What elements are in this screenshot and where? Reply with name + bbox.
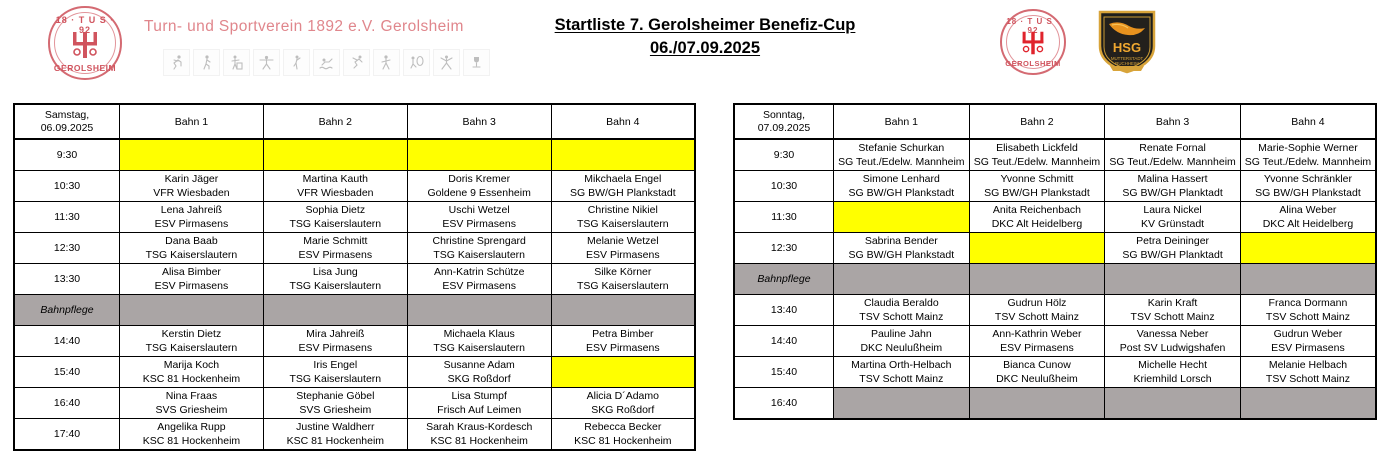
player-name: Franca Dormann xyxy=(1241,296,1375,310)
player-club: SG Teut./Edelw. Mannheim xyxy=(1241,155,1375,169)
svg-text:HSG: HSG xyxy=(1113,40,1141,55)
time-cell: 9:30 xyxy=(734,139,834,171)
player-name: Martina Kauth xyxy=(264,172,407,186)
player-name: Simone Lenhard xyxy=(834,172,969,186)
time-cell: 15:40 xyxy=(14,357,120,388)
club-name: Turn- und Sportverein 1892 e.V. Gerolshe… xyxy=(144,18,464,36)
lane-header-3: Bahn 3 xyxy=(1105,104,1241,139)
table-row: 15:40Martina Orth-HelbachTSV Schott Main… xyxy=(734,357,1376,388)
player-name: Karin Jäger xyxy=(120,172,263,186)
maintenance-row: Bahnpflege xyxy=(14,295,695,326)
day-label-line2: 06.09.2025 xyxy=(41,122,94,134)
player-name: Stephanie Göbel xyxy=(264,389,407,403)
lane-1-slot: Karin JägerVFR Wiesbaden xyxy=(120,171,264,202)
jumping-icon xyxy=(283,49,310,76)
player-club: Post SV Ludwigshafen xyxy=(1105,341,1240,355)
table-row: 11:30Anita ReichenbachDKC Alt Heidelberg… xyxy=(734,202,1376,233)
lane-1-slot xyxy=(834,388,970,420)
lane-4-slot xyxy=(1240,233,1376,264)
lane-3-slot: Vanessa NeberPost SV Ludwigshafen xyxy=(1105,326,1241,357)
lane-header-2: Bahn 2 xyxy=(969,104,1105,139)
player-club: DKC Neulußheim xyxy=(834,341,969,355)
day-label-line1: Sonntag, xyxy=(763,109,805,121)
player-name: Doris Kremer xyxy=(408,172,551,186)
page-header: 18 · T U S · 92 GEROLSHEIM Turn- und Spo… xyxy=(0,0,1388,92)
logo-bottom-text: GEROLSHEIM xyxy=(50,63,120,73)
lane-2-slot: Yvonne SchmittSG BW/GH Plankstadt xyxy=(969,171,1105,202)
table-row: 9:30Stefanie SchurkanSG Teut./Edelw. Man… xyxy=(734,139,1376,171)
lane-4-slot: Alina WeberDKC Alt Heidelberg xyxy=(1240,202,1376,233)
table-header-row: Samstag,06.09.2025Bahn 1Bahn 2Bahn 3Bahn… xyxy=(14,104,695,139)
lane-4-slot: Mikchaela EngelSG BW/GH Plankstadt xyxy=(551,171,695,202)
maintenance-label: Bahnpflege xyxy=(14,295,120,326)
player-name: Marija Koch xyxy=(120,358,263,372)
player-name: Ann-Kathrin Weber xyxy=(970,327,1105,341)
player-name: Petra Deininger xyxy=(1105,234,1240,248)
player-name: Ann-Katrin Schütze xyxy=(408,265,551,279)
player-name: Anita Reichenbach xyxy=(970,203,1105,217)
player-name: Renate Fornal xyxy=(1105,141,1240,155)
lane-2-slot: Marie SchmittESV Pirmasens xyxy=(263,233,407,264)
lane-2-slot xyxy=(969,264,1105,295)
lane-1-slot xyxy=(120,295,264,326)
player-club: ESV Pirmasens xyxy=(408,217,551,231)
lane-header-4: Bahn 4 xyxy=(551,104,695,139)
lane-2-slot xyxy=(263,139,407,171)
lane-header-1: Bahn 1 xyxy=(834,104,970,139)
lane-1-slot: Nina FraasSVS Griesheim xyxy=(120,388,264,419)
bowling-icon xyxy=(403,49,430,76)
player-club: TSV Schott Mainz xyxy=(970,310,1105,324)
table-row: 13:30Alisa BimberESV PirmasensLisa JungT… xyxy=(14,264,695,295)
player-name: Martina Orth-Helbach xyxy=(834,358,969,372)
player-club: KSC 81 Hockenheim xyxy=(264,434,407,448)
player-club: SVS Griesheim xyxy=(120,403,263,417)
player-club: SG BW/GH Planktadt xyxy=(1105,248,1240,262)
time-cell: 12:30 xyxy=(14,233,120,264)
table-row: 14:40Pauline JahnDKC NeulußheimAnn-Kathr… xyxy=(734,326,1376,357)
player-name: Claudia Beraldo xyxy=(834,296,969,310)
player-club: TSG Kaiserslautern xyxy=(120,248,263,262)
player-club: VFR Wiesbaden xyxy=(120,186,263,200)
player-name: Malina Hassert xyxy=(1105,172,1240,186)
right-logo-group: 18 · T U S · 92 GEROLSHEIM HSG MUTTERSTA… xyxy=(1000,8,1158,76)
time-cell: 16:40 xyxy=(734,388,834,420)
logo-bottom-text-right: GEROLSHEIM xyxy=(1002,59,1064,68)
lane-3-slot: Petra DeiningerSG BW/GH Planktadt xyxy=(1105,233,1241,264)
player-name: Gudrun Weber xyxy=(1241,327,1375,341)
player-club: SG Teut./Edelw. Mannheim xyxy=(834,155,969,169)
player-name: Susanne Adam xyxy=(408,358,551,372)
player-club: ESV Pirmasens xyxy=(970,341,1105,355)
player-club: Goldene 9 Essenheim xyxy=(408,186,551,200)
table-header-row: Sonntag,07.09.2025Bahn 1Bahn 2Bahn 3Bahn… xyxy=(734,104,1376,139)
lane-2-slot: Elisabeth LickfeldSG Teut./Edelw. Mannhe… xyxy=(969,139,1105,171)
lane-3-slot: Uschi WetzelESV Pirmasens xyxy=(407,202,551,233)
time-cell: 11:30 xyxy=(14,202,120,233)
lane-header-1: Bahn 1 xyxy=(120,104,264,139)
lane-2-slot: Ann-Kathrin WeberESV Pirmasens xyxy=(969,326,1105,357)
player-name: Lisa Jung xyxy=(264,265,407,279)
player-name: Christine Nikiel xyxy=(552,203,694,217)
time-cell: 17:40 xyxy=(14,419,120,451)
maintenance-label: Bahnpflege xyxy=(734,264,834,295)
player-name: Bianca Cunow xyxy=(970,358,1105,372)
time-cell: 13:30 xyxy=(14,264,120,295)
player-club: KSC 81 Hockenheim xyxy=(552,434,694,448)
lane-2-slot: Mira JahreißESV Pirmasens xyxy=(263,326,407,357)
lane-2-slot: Gudrun HölzTSV Schott Mainz xyxy=(969,295,1105,326)
lane-4-slot: Alicia D´AdamoSKG Roßdorf xyxy=(551,388,695,419)
table-row: 12:30Sabrina BenderSG BW/GH PlankstadtPe… xyxy=(734,233,1376,264)
lane-2-slot: Lisa JungTSG Kaiserslautern xyxy=(263,264,407,295)
table-row: 15:40Marija KochKSC 81 HockenheimIris En… xyxy=(14,357,695,388)
fitness-icon xyxy=(253,49,280,76)
player-club: TSV Schott Mainz xyxy=(1241,372,1375,386)
day-label-line2: 07.09.2025 xyxy=(758,122,811,134)
lane-4-slot: Rebecca BeckerKSC 81 Hockenheim xyxy=(551,419,695,451)
player-name: Michaela Klaus xyxy=(408,327,551,341)
player-name: Yvonne Schränkler xyxy=(1241,172,1375,186)
title-line-2: 06./07.09.2025 xyxy=(470,37,940,60)
player-club: ESV Pirmasens xyxy=(552,248,694,262)
lane-2-slot xyxy=(969,388,1105,420)
lane-4-slot: Christine NikielTSG Kaiserslautern xyxy=(551,202,695,233)
lane-header-3: Bahn 3 xyxy=(407,104,551,139)
trident-icon-right xyxy=(1019,30,1047,56)
player-name: Nina Fraas xyxy=(120,389,263,403)
player-club: TSV Schott Mainz xyxy=(1241,310,1375,324)
hsg-crest-icon: HSG MUTTERSTADT RUCHHEIM xyxy=(1096,8,1158,76)
player-club: SG Teut./Edelw. Mannheim xyxy=(1105,155,1240,169)
lane-3-slot: Susanne AdamSKG Roßdorf xyxy=(407,357,551,388)
player-name: Sabrina Bender xyxy=(834,234,969,248)
lane-1-slot: Marija KochKSC 81 Hockenheim xyxy=(120,357,264,388)
trident-icon xyxy=(69,30,101,60)
lane-1-slot: Kerstin DietzTSG Kaiserslautern xyxy=(120,326,264,357)
player-name: Angelika Rupp xyxy=(120,420,263,434)
player-club: KSC 81 Hockenheim xyxy=(408,434,551,448)
player-name: Lisa Stumpf xyxy=(408,389,551,403)
lane-3-slot: Christine SprengardTSG Kaiserslautern xyxy=(407,233,551,264)
maintenance-row: Bahnpflege xyxy=(734,264,1376,295)
player-name: Vanessa Neber xyxy=(1105,327,1240,341)
lane-4-slot: Gudrun WeberESV Pirmasens xyxy=(1240,326,1376,357)
lane-1-slot xyxy=(120,139,264,171)
player-club: TSV Schott Mainz xyxy=(834,310,969,324)
player-name: Justine Waldherr xyxy=(264,420,407,434)
player-name: Alicia D´Adamo xyxy=(552,389,694,403)
player-club: TSG Kaiserslautern xyxy=(264,372,407,386)
running-icon xyxy=(163,49,190,76)
table-row: 16:40Nina FraasSVS GriesheimStephanie Gö… xyxy=(14,388,695,419)
lane-1-slot: Simone LenhardSG BW/GH Plankstadt xyxy=(834,171,970,202)
table-row: 10:30Karin JägerVFR WiesbadenMartina Kau… xyxy=(14,171,695,202)
lane-2-slot: Bianca CunowDKC Neulußheim xyxy=(969,357,1105,388)
schedule-table-saturday: Samstag,06.09.2025Bahn 1Bahn 2Bahn 3Bahn… xyxy=(13,103,696,451)
player-club: DKC Alt Heidelberg xyxy=(1241,217,1375,231)
player-name: Sarah Kraus-Kordesch xyxy=(408,420,551,434)
lane-2-slot xyxy=(969,233,1105,264)
day-header-cell: Samstag,06.09.2025 xyxy=(14,104,120,139)
lane-2-slot xyxy=(263,295,407,326)
document-title: Startliste 7. Gerolsheimer Benefiz-Cup 0… xyxy=(470,14,940,60)
tus-gerolsheim-logo: 18 · T U S · 92 GEROLSHEIM xyxy=(48,6,122,80)
time-cell: 10:30 xyxy=(734,171,834,202)
lane-1-slot: Claudia BeraldoTSV Schott Mainz xyxy=(834,295,970,326)
lane-1-slot: Lena JahreißESV Pirmasens xyxy=(120,202,264,233)
time-cell: 10:30 xyxy=(14,171,120,202)
player-name: Kerstin Dietz xyxy=(120,327,263,341)
lane-3-slot: Doris KremerGoldene 9 Essenheim xyxy=(407,171,551,202)
player-club: ESV Pirmasens xyxy=(408,279,551,293)
lane-4-slot: Melanie HelbachTSV Schott Mainz xyxy=(1240,357,1376,388)
club-branding: 18 · T U S · 92 GEROLSHEIM Turn- und Spo… xyxy=(48,6,468,82)
time-cell: 13:40 xyxy=(734,295,834,326)
lane-1-slot xyxy=(834,264,970,295)
player-name: Stefanie Schurkan xyxy=(834,141,969,155)
table-row: 10:30Simone LenhardSG BW/GH PlankstadtYv… xyxy=(734,171,1376,202)
lane-3-slot: Michelle HechtKriemhild Lorsch xyxy=(1105,357,1241,388)
player-club: TSV Schott Mainz xyxy=(834,372,969,386)
player-name: Christine Sprengard xyxy=(408,234,551,248)
time-cell: 16:40 xyxy=(14,388,120,419)
lane-4-slot xyxy=(551,357,695,388)
saturday-table-body: Samstag,06.09.2025Bahn 1Bahn 2Bahn 3Bahn… xyxy=(14,104,695,450)
lane-2-slot: Martina KauthVFR Wiesbaden xyxy=(263,171,407,202)
player-name: Lena Jahreiß xyxy=(120,203,263,217)
lane-4-slot xyxy=(1240,388,1376,420)
lane-1-slot: Pauline JahnDKC Neulußheim xyxy=(834,326,970,357)
player-name: Alisa Bimber xyxy=(120,265,263,279)
hsg-mutterstadt-ruchheim-logo: HSG MUTTERSTADT RUCHHEIM xyxy=(1096,8,1158,76)
lane-3-slot xyxy=(407,295,551,326)
player-name: Marie Schmitt xyxy=(264,234,407,248)
lane-3-slot xyxy=(407,139,551,171)
lane-2-slot: Sophia DietzTSG Kaiserslautern xyxy=(263,202,407,233)
gymnastics-icon xyxy=(223,49,250,76)
player-club: TSG Kaiserslautern xyxy=(408,341,551,355)
player-club: KSC 81 Hockenheim xyxy=(120,372,263,386)
player-club: SG Teut./Edelw. Mannheim xyxy=(970,155,1105,169)
player-club: KV Grünstadt xyxy=(1105,217,1240,231)
player-club: SG BW/GH Planktadt xyxy=(1105,186,1240,200)
player-name: Rebecca Becker xyxy=(552,420,694,434)
walking-icon xyxy=(193,49,220,76)
lane-1-slot: Angelika RuppKSC 81 Hockenheim xyxy=(120,419,264,451)
player-club: Frisch Auf Leimen xyxy=(408,403,551,417)
player-name: Pauline Jahn xyxy=(834,327,969,341)
time-cell: 14:40 xyxy=(14,326,120,357)
table-row: 14:40Kerstin DietzTSG KaiserslauternMira… xyxy=(14,326,695,357)
player-name: Marie-Sophie Werner xyxy=(1241,141,1375,155)
player-name: Sophia Dietz xyxy=(264,203,407,217)
player-club: Kriemhild Lorsch xyxy=(1105,372,1240,386)
player-club: SVS Griesheim xyxy=(264,403,407,417)
player-club: DKC Alt Heidelberg xyxy=(970,217,1105,231)
lane-3-slot: Ann-Katrin SchützeESV Pirmasens xyxy=(407,264,551,295)
player-club: ESV Pirmasens xyxy=(264,248,407,262)
lane-4-slot: Franca DormannTSV Schott Mainz xyxy=(1240,295,1376,326)
player-club: SG BW/GH Plankstadt xyxy=(834,186,969,200)
lane-2-slot: Iris EngelTSG Kaiserslautern xyxy=(263,357,407,388)
tus-gerolsheim-logo-right: 18 · T U S · 92 GEROLSHEIM xyxy=(1000,9,1066,75)
day-header-cell: Sonntag,07.09.2025 xyxy=(734,104,834,139)
player-club: TSV Schott Mainz xyxy=(1105,310,1240,324)
player-name: Uschi Wetzel xyxy=(408,203,551,217)
player-club: SG BW/GH Plankstadt xyxy=(1241,186,1375,200)
lane-4-slot: Melanie WetzelESV Pirmasens xyxy=(551,233,695,264)
player-name: Melanie Helbach xyxy=(1241,358,1375,372)
lane-header-2: Bahn 2 xyxy=(263,104,407,139)
lane-1-slot: Martina Orth-HelbachTSV Schott Mainz xyxy=(834,357,970,388)
player-name: Gudrun Hölz xyxy=(970,296,1105,310)
player-club: TSG Kaiserslautern xyxy=(408,248,551,262)
player-name: Laura Nickel xyxy=(1105,203,1240,217)
sprinting-icon xyxy=(343,49,370,76)
player-name: Michelle Hecht xyxy=(1105,358,1240,372)
swimming-icon xyxy=(313,49,340,76)
lane-3-slot: Laura NickelKV Grünstadt xyxy=(1105,202,1241,233)
player-name: Dana Baab xyxy=(120,234,263,248)
player-name: Alina Weber xyxy=(1241,203,1375,217)
player-name: Elisabeth Lickfeld xyxy=(970,141,1105,155)
player-name: Mira Jahreiß xyxy=(264,327,407,341)
player-club: TSG Kaiserslautern xyxy=(264,217,407,231)
lane-header-4: Bahn 4 xyxy=(1240,104,1376,139)
table-row: 17:40Angelika RuppKSC 81 HockenheimJusti… xyxy=(14,419,695,451)
player-club: TSG Kaiserslautern xyxy=(264,279,407,293)
lane-1-slot: Sabrina BenderSG BW/GH Plankstadt xyxy=(834,233,970,264)
lane-3-slot: Lisa StumpfFrisch Auf Leimen xyxy=(407,388,551,419)
player-club: KSC 81 Hockenheim xyxy=(120,434,263,448)
player-name: Karin Kraft xyxy=(1105,296,1240,310)
lane-4-slot xyxy=(551,139,695,171)
lane-3-slot: Renate FornalSG Teut./Edelw. Mannheim xyxy=(1105,139,1241,171)
player-name: Mikchaela Engel xyxy=(552,172,694,186)
sunday-table-body: Sonntag,07.09.2025Bahn 1Bahn 2Bahn 3Bahn… xyxy=(734,104,1376,419)
sports-pictogram-strip xyxy=(163,49,490,76)
schedule-table-sunday: Sonntag,07.09.2025Bahn 1Bahn 2Bahn 3Bahn… xyxy=(733,103,1377,420)
player-club: TSG Kaiserslautern xyxy=(552,217,694,231)
stretching-icon xyxy=(433,49,460,76)
table-row: 12:30Dana BaabTSG KaiserslauternMarie Sc… xyxy=(14,233,695,264)
time-cell: 15:40 xyxy=(734,357,834,388)
lane-4-slot: Petra BimberESV Pirmasens xyxy=(551,326,695,357)
player-club: TSG Kaiserslautern xyxy=(552,279,694,293)
player-name: Iris Engel xyxy=(264,358,407,372)
player-club: VFR Wiesbaden xyxy=(264,186,407,200)
svg-text:RUCHHEIM: RUCHHEIM xyxy=(1115,61,1139,66)
table-row: 13:40Claudia BeraldoTSV Schott MainzGudr… xyxy=(734,295,1376,326)
lane-3-slot xyxy=(1105,388,1241,420)
player-club: ESV Pirmasens xyxy=(264,341,407,355)
player-name: Melanie Wetzel xyxy=(552,234,694,248)
player-name: Yvonne Schmitt xyxy=(970,172,1105,186)
lane-3-slot: Michaela KlausTSG Kaiserslautern xyxy=(407,326,551,357)
table-row: 9:30 xyxy=(14,139,695,171)
player-club: ESV Pirmasens xyxy=(120,279,263,293)
lane-1-slot: Alisa BimberESV Pirmasens xyxy=(120,264,264,295)
lane-4-slot: Yvonne SchränklerSG BW/GH Plankstadt xyxy=(1240,171,1376,202)
player-club: ESV Pirmasens xyxy=(120,217,263,231)
time-cell: 12:30 xyxy=(734,233,834,264)
time-cell: 14:40 xyxy=(734,326,834,357)
lane-3-slot: Malina HassertSG BW/GH Planktadt xyxy=(1105,171,1241,202)
lane-4-slot: Silke KörnerTSG Kaiserslautern xyxy=(551,264,695,295)
lane-3-slot: Sarah Kraus-KordeschKSC 81 Hockenheim xyxy=(407,419,551,451)
player-club: ESV Pirmasens xyxy=(1241,341,1375,355)
lane-4-slot xyxy=(1240,264,1376,295)
day-label-line1: Samstag, xyxy=(45,109,89,121)
player-club: SG BW/GH Plankstadt xyxy=(970,186,1105,200)
lane-1-slot: Dana BaabTSG Kaiserslautern xyxy=(120,233,264,264)
lane-2-slot: Stephanie GöbelSVS Griesheim xyxy=(263,388,407,419)
player-club: SKG Roßdorf xyxy=(552,403,694,417)
lane-3-slot: Karin KraftTSV Schott Mainz xyxy=(1105,295,1241,326)
player-club: SG BW/GH Plankstadt xyxy=(834,248,969,262)
player-name: Silke Körner xyxy=(552,265,694,279)
player-club: SKG Roßdorf xyxy=(408,372,551,386)
time-cell: 11:30 xyxy=(734,202,834,233)
player-name: Petra Bimber xyxy=(552,327,694,341)
player-club: TSG Kaiserslautern xyxy=(120,341,263,355)
player-club: ESV Pirmasens xyxy=(552,341,694,355)
lane-1-slot xyxy=(834,202,970,233)
table-row: 16:40 xyxy=(734,388,1376,420)
player-club: SG BW/GH Plankstadt xyxy=(552,186,694,200)
lane-3-slot xyxy=(1105,264,1241,295)
lane-2-slot: Justine WaldherrKSC 81 Hockenheim xyxy=(263,419,407,451)
lane-1-slot: Stefanie SchurkanSG Teut./Edelw. Mannhei… xyxy=(834,139,970,171)
player-club: DKC Neulußheim xyxy=(970,372,1105,386)
time-cell: 9:30 xyxy=(14,139,120,171)
lane-2-slot: Anita ReichenbachDKC Alt Heidelberg xyxy=(969,202,1105,233)
hiking-icon xyxy=(373,49,400,76)
lane-4-slot xyxy=(551,295,695,326)
lane-4-slot: Marie-Sophie WernerSG Teut./Edelw. Mannh… xyxy=(1240,139,1376,171)
title-line-1: Startliste 7. Gerolsheimer Benefiz-Cup xyxy=(470,14,940,37)
table-row: 11:30Lena JahreißESV PirmasensSophia Die… xyxy=(14,202,695,233)
